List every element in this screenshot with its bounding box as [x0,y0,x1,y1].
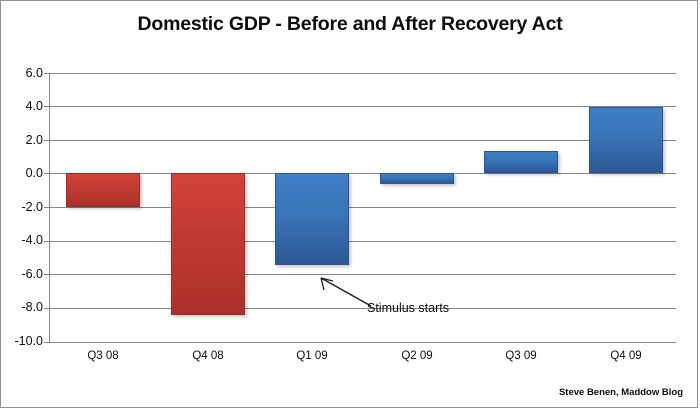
y-tick-label: -6.0 [3,268,43,281]
bar-q3-09[interactable] [484,151,558,173]
x-tick-label-q4-08: Q4 08 [171,350,245,362]
chart-container: Domestic GDP - Before and After Recovery… [0,0,698,408]
bar-q2-09[interactable] [380,173,454,184]
chart-title: Domestic GDP - Before and After Recovery… [1,13,699,36]
gridline [49,207,676,208]
gridline-zero [49,173,676,174]
x-tick-label-q1-09: Q1 09 [275,350,349,362]
bar-q1-09[interactable] [275,173,349,265]
x-tick-label-q4-09: Q4 09 [589,350,663,362]
y-tick-label: 2.0 [3,134,43,147]
y-tick-label: -4.0 [3,234,43,247]
x-tick-label-q3-09: Q3 09 [484,350,558,362]
annotation-arrow-icon [313,273,375,309]
bar-q3-08[interactable] [66,173,140,207]
gridline [49,73,676,74]
y-tick-label: -10.0 [3,335,43,348]
annotation-stimulus-starts: Stimulus starts [367,301,449,315]
gridline [49,140,676,141]
gridline-axis-bottom [49,342,676,343]
y-tick-label: -8.0 [3,301,43,314]
x-tick-label-q3-08: Q3 08 [66,350,140,362]
y-axis-labels: 6.0 4.0 2.0 0.0 -2.0 -4.0 -6.0 -8.0 -10.… [1,1,43,411]
y-tick-label: 6.0 [3,67,43,80]
source-credit: Steve Benen, Maddow Blog [559,387,683,398]
y-tick-label: 0.0 [3,167,43,180]
bar-q4-09[interactable] [589,107,663,173]
bar-q4-08[interactable] [171,173,245,315]
gridline [49,241,676,242]
gridline [49,106,676,107]
x-tick-label-q2-09: Q2 09 [380,350,454,362]
y-tick-label: -2.0 [3,201,43,214]
y-tick-label: 4.0 [3,100,43,113]
